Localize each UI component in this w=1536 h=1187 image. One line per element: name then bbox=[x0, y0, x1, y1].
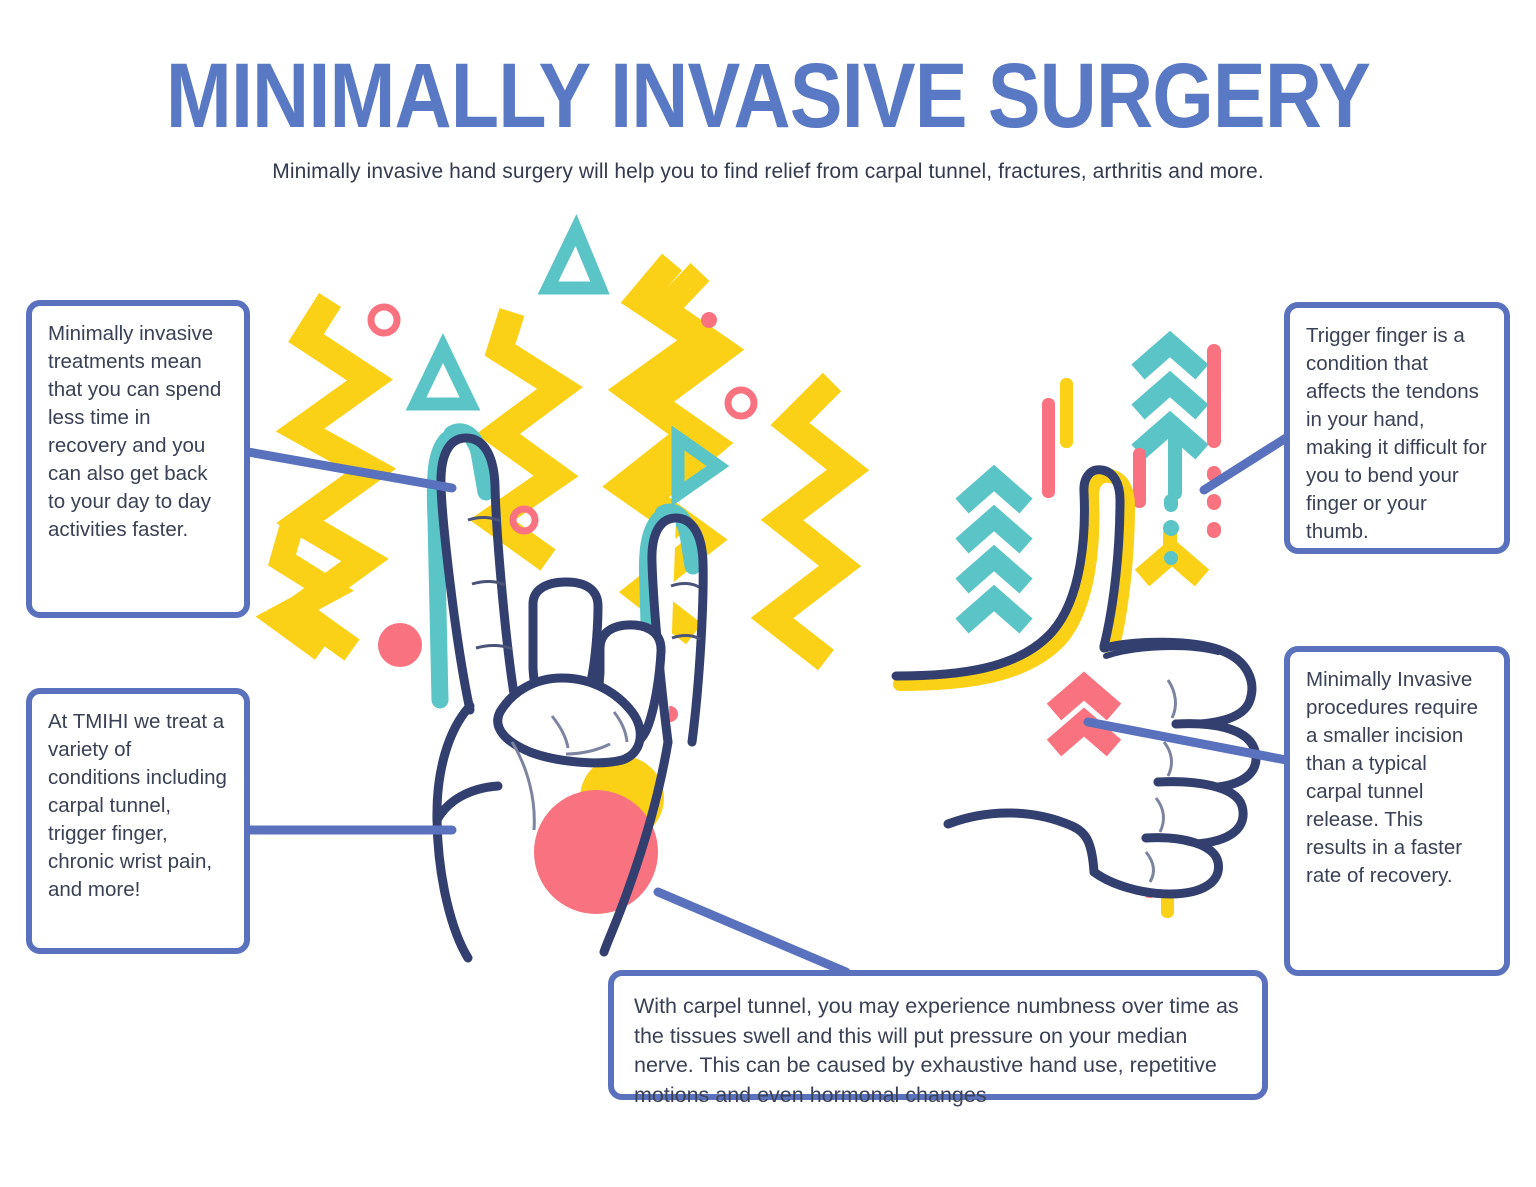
callout-recovery-time-text: Minimally invasive treatments mean that … bbox=[48, 322, 221, 541]
callout-carpal-tunnel-numbness[interactable]: With carpel tunnel, you may experience n… bbox=[608, 970, 1268, 1100]
decoration-teal-triangle-icon-2 bbox=[416, 348, 470, 404]
decoration-coral-circle-outline-1 bbox=[371, 307, 397, 333]
decoration-teal-chevron-stack-left bbox=[962, 478, 1026, 626]
decoration-coral-dash-column bbox=[1207, 466, 1221, 538]
callout-smaller-incision-text: Minimally Invasive procedures require a … bbox=[1306, 668, 1478, 887]
infographic-canvas: MINIMALLY INVASIVE SURGERY Minimally inv… bbox=[0, 0, 1536, 1187]
decoration-coral-disc-small bbox=[378, 623, 422, 667]
decoration-teal-dash-column bbox=[1163, 494, 1179, 565]
decoration-coral-chevron bbox=[1054, 686, 1114, 748]
decoration-teal-triangle-icon-1 bbox=[548, 230, 600, 288]
callout-conditions-treated[interactable]: At TMIHI we treat a variety of condition… bbox=[26, 688, 250, 954]
callout-trigger-finger[interactable]: Trigger finger is a condition that affec… bbox=[1284, 302, 1510, 554]
callout-conditions-treated-text: At TMIHI we treat a variety of condition… bbox=[48, 710, 227, 901]
callout-smaller-incision[interactable]: Minimally Invasive procedures require a … bbox=[1284, 646, 1510, 976]
decoration-coral-dot-1 bbox=[701, 312, 717, 328]
callout-recovery-time[interactable]: Minimally invasive treatments mean that … bbox=[26, 300, 250, 618]
decoration-coral-circle-outline-2 bbox=[728, 390, 754, 416]
decoration-coral-circle-outline-3 bbox=[513, 509, 535, 531]
callout-carpal-tunnel-numbness-text: With carpel tunnel, you may experience n… bbox=[634, 994, 1239, 1107]
callout-trigger-finger-text: Trigger finger is a condition that affec… bbox=[1306, 324, 1487, 543]
